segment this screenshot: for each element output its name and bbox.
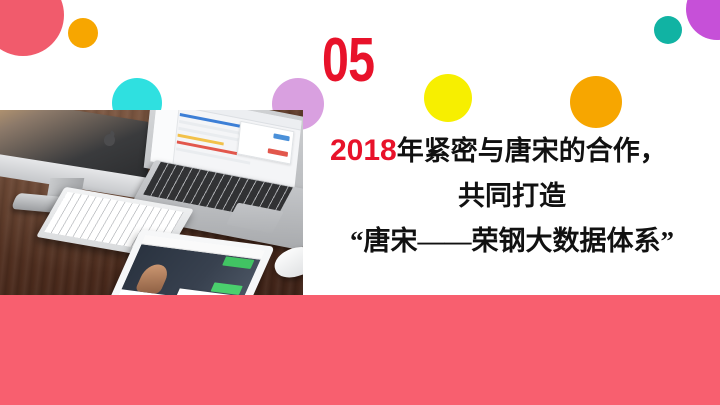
circle-pink-large: [0, 0, 64, 56]
circle-orange-small: [68, 18, 98, 48]
headline-line-1: 2018年紧密与唐宋的合作，: [312, 128, 712, 174]
desk-photo: [0, 110, 303, 312]
headline-line-1-text: 年紧密与唐宋的合作，: [397, 136, 667, 166]
circle-yellow: [424, 74, 472, 122]
section-number: 05: [322, 30, 374, 92]
macbook-app-sidebar: [150, 110, 179, 166]
circle-teal: [654, 16, 682, 44]
circle-orange-large: [570, 76, 622, 128]
headline-year: 2018: [330, 134, 397, 167]
bottom-accent-band: [0, 295, 720, 405]
headline-line-3: “唐宋——荣钢大数据体系”: [312, 219, 712, 264]
headline-line-2: 共同打造: [312, 174, 712, 219]
presentation-slide: 05 2018年紧密与唐宋的合作， 共同打造 “唐宋——荣钢大数据体系”: [0, 0, 720, 405]
headline-block: 2018年紧密与唐宋的合作， 共同打造 “唐宋——荣钢大数据体系”: [312, 128, 712, 264]
circle-magenta: [686, 0, 720, 40]
